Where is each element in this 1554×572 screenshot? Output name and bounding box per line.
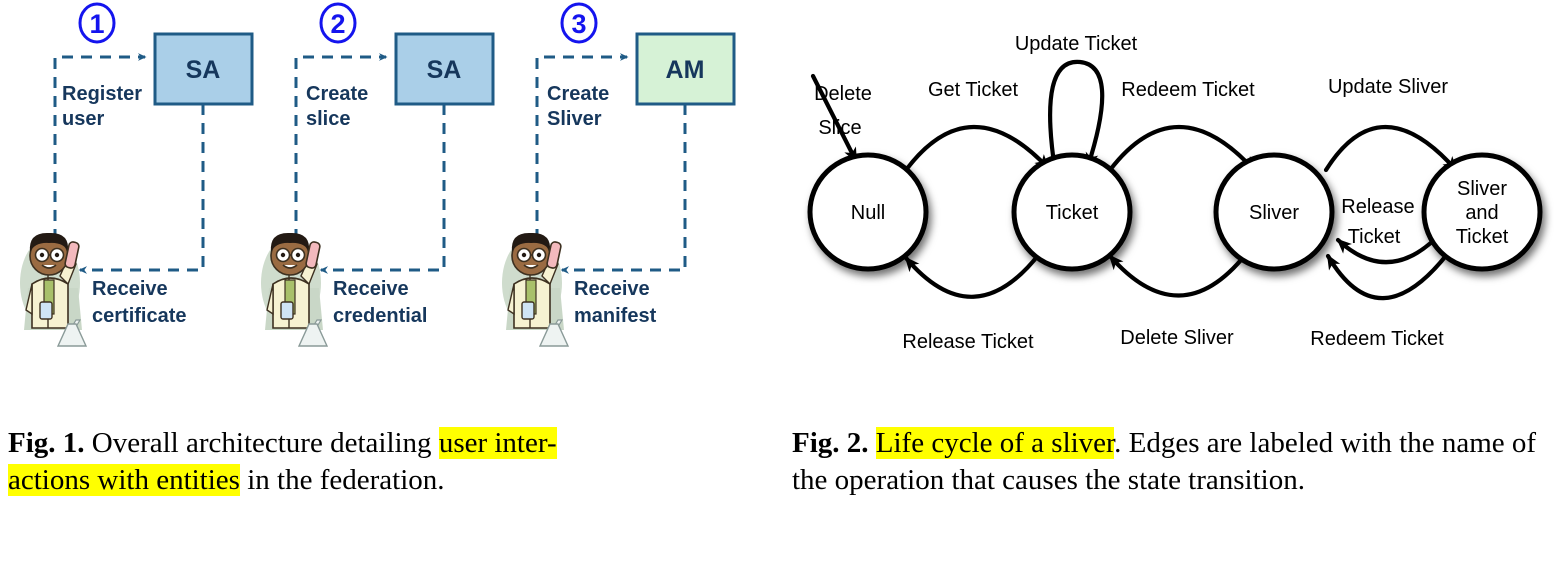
edge-label-redeem-ticket-2: Redeem Ticket <box>1310 328 1444 350</box>
figure-2-caption-highlight1: Life cycle of a sliver <box>876 427 1114 459</box>
figure-1-caption-part2: in the federation. <box>240 464 445 496</box>
figure-2-diagram: Null Ticket Sliver Sliver and Ticket Del… <box>780 0 1554 380</box>
edge-release-ticket-1 <box>906 253 1040 297</box>
edge-label-get-ticket: Get Ticket <box>928 79 1018 101</box>
edge-label-update-sliver: Update Sliver <box>1328 76 1448 98</box>
label-register-user-line2: user <box>62 108 104 130</box>
edge-redeem-ticket-2 <box>1328 248 1452 298</box>
edge-label-release-ticket-1: Release Ticket <box>902 331 1034 353</box>
label-register-user-line1: Register <box>62 83 142 105</box>
figure-1-diagram: 1 SA Register user Receive certificate <box>0 0 780 400</box>
edge-redeem-ticket-1 <box>1110 127 1254 170</box>
label-receive-certificate-line2: certificate <box>92 305 187 327</box>
entity-label-sa-1: SA <box>186 56 221 84</box>
figure-1-label: Fig. 1. <box>8 427 85 459</box>
step-number-1: 1 <box>89 9 104 39</box>
edge-label-delete-sliver: Delete Sliver <box>1120 327 1234 349</box>
entity-label-am-3: AM <box>666 56 705 84</box>
edge-label-release-ticket-2-line1: Release <box>1341 196 1414 218</box>
label-create-slice-line2: slice <box>306 108 350 130</box>
state-label-ticket: Ticket <box>1046 202 1099 224</box>
flow-step-2: 2 SA Create slice Receive credential <box>261 4 493 346</box>
label-create-sliver-line1: Create <box>547 83 609 105</box>
figure-2-panel: Null Ticket Sliver Sliver and Ticket Del… <box>780 0 1554 572</box>
entity-label-sa-2: SA <box>427 56 462 84</box>
figure-1-caption-highlight1: user inter- <box>439 427 557 459</box>
actor-scientist-2 <box>261 233 327 346</box>
state-node-sliver[interactable]: Sliver <box>1216 155 1332 269</box>
state-node-ticket[interactable]: Ticket <box>1014 155 1130 269</box>
figure-1-panel: 1 SA Register user Receive certificate <box>0 0 780 572</box>
label-receive-certificate-line1: Receive <box>92 278 168 300</box>
edge-delete-sliver <box>1110 254 1246 296</box>
state-label-sliver: Sliver <box>1249 202 1299 224</box>
label-receive-manifest-line2: manifest <box>574 305 657 327</box>
step-number-3: 3 <box>571 9 586 39</box>
figure-1-caption-highlight2: actions with entities <box>8 464 240 496</box>
edge-label-release-ticket-2-line2: Ticket <box>1348 226 1401 248</box>
edge-update-sliver <box>1326 127 1456 170</box>
label-create-slice-line1: Create <box>306 83 368 105</box>
state-label-sliver-and-ticket-line3: Ticket <box>1456 226 1509 248</box>
state-label-sliver-and-ticket-line2: and <box>1465 202 1498 224</box>
label-create-sliver-line2: Sliver <box>547 108 602 130</box>
state-node-null[interactable]: Null <box>810 155 926 269</box>
figure-2-label: Fig. 2. <box>792 427 869 459</box>
state-label-null: Null <box>851 202 885 224</box>
figure-1-caption: Fig. 1. Overall architecture detailing u… <box>8 425 752 499</box>
state-node-sliver-and-ticket[interactable]: Sliver and Ticket <box>1424 155 1540 269</box>
actor-scientist-3 <box>502 233 568 346</box>
label-receive-manifest-line1: Receive <box>574 278 650 300</box>
edge-label-delete-slice-line1: Delete <box>814 83 872 105</box>
actor-scientist-1 <box>20 233 86 346</box>
step-number-2: 2 <box>330 9 345 39</box>
flow-step-3: 3 AM Create Sliver Receive manifest <box>502 4 734 346</box>
edge-label-redeem-ticket-1: Redeem Ticket <box>1121 79 1255 101</box>
label-receive-credential-line2: credential <box>333 305 427 327</box>
flow-step-1: 1 SA Register user Receive certificate <box>20 4 252 346</box>
figure-2-caption: Fig. 2. Life cycle of a sliver. Edges ar… <box>792 425 1540 499</box>
figure-1-caption-part1: Overall architecture detailing <box>85 427 439 459</box>
edge-label-delete-slice-line2: Slice <box>818 117 861 139</box>
state-label-sliver-and-ticket-line1: Sliver <box>1457 178 1507 200</box>
edge-get-ticket <box>906 127 1048 170</box>
label-receive-credential-line1: Receive <box>333 278 409 300</box>
edge-label-update-ticket: Update Ticket <box>1015 33 1138 55</box>
